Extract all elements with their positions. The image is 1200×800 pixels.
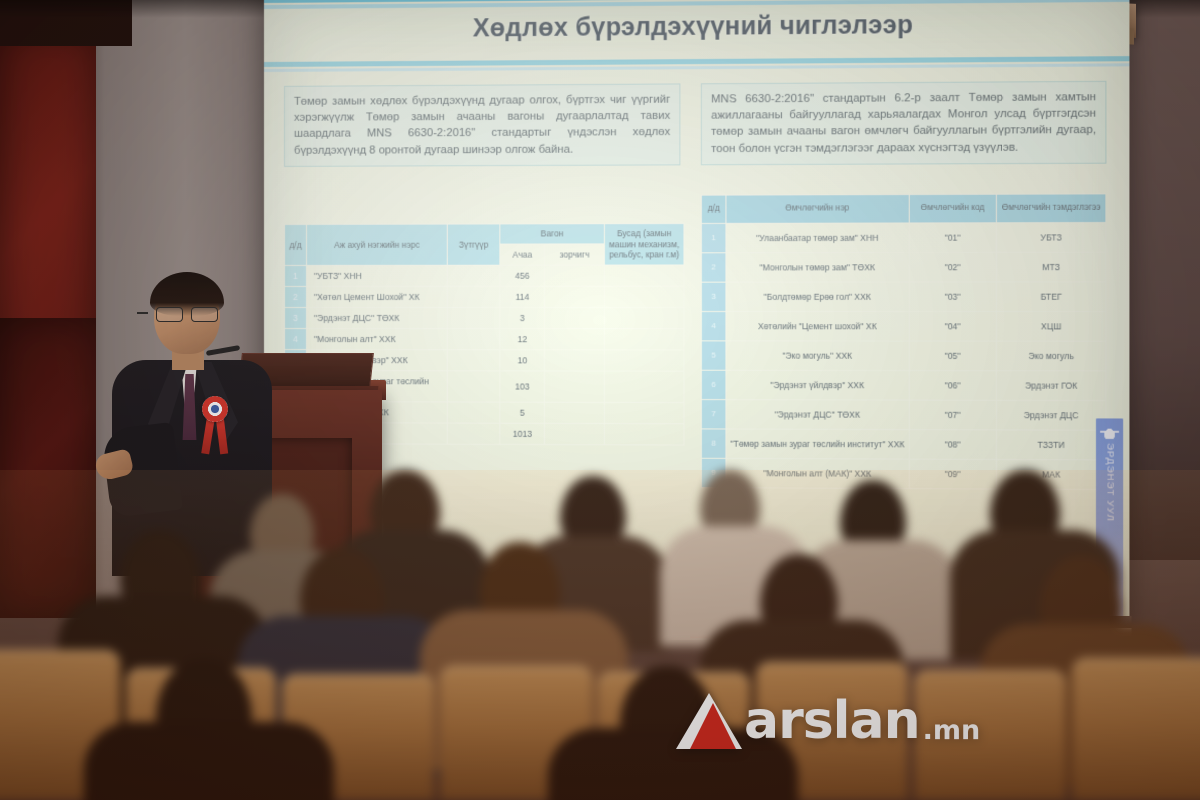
cell-index: 8 <box>701 429 726 458</box>
table-row: 3"Эрдэнэт ДЦС" ТӨХК3 <box>284 307 683 328</box>
cell-owner-mark: Эко могуль <box>997 341 1106 371</box>
table-row: 1"УБТЗ" ХНН456 <box>284 264 683 286</box>
cell-index: 4 <box>284 328 306 349</box>
cell-owner-code: "05" <box>909 341 997 371</box>
table-row: 6"Эрдэнэт үйлдвэр" ХХК"06"Эрдэнэт ГОК <box>701 370 1106 400</box>
col-owner-mark-header: Өмчлөгчийн тэмдэглэгээ <box>997 194 1106 223</box>
cell-owner-mark: ХЦШ <box>997 311 1106 341</box>
cell-owner-name: "Эрдэнэт үйлдвэр" ХХК <box>726 370 909 400</box>
cell-owner-code: "03" <box>909 282 997 312</box>
cell-owner-name: "Болдтөмөр Ерөө гол" ХХК <box>726 282 909 312</box>
cell-index: 7 <box>701 399 726 428</box>
cell-locomotive <box>447 349 500 370</box>
cell-index: 6 <box>701 370 726 399</box>
col-owner-code-header: Өмчлөгчийн код <box>909 194 997 222</box>
cell-wagon-passenger <box>545 286 604 307</box>
table-row: 8"Төмөр замын зураг төслийн институт" ХХ… <box>701 429 1106 460</box>
emblem-icon <box>1100 425 1119 439</box>
table-row: 3"Болдтөмөр Ерөө гол" ХХК"03"БТЕГ <box>701 282 1106 312</box>
cell-index: 3 <box>701 282 726 311</box>
cell-company-name: "Монголын алт" ХХК <box>307 328 448 349</box>
slide-paragraph-right: MNS 6630-2:2016" стандартын 6.2-р заалт … <box>701 81 1107 165</box>
col-owner-name-header: Өмчлөгчийн нэр <box>726 194 909 223</box>
owner-code-table: д/д Өмчлөгчийн нэр Өмчлөгчийн код Өмчлөг… <box>701 193 1107 489</box>
cell-index: 5 <box>701 341 726 370</box>
table-row: 4Хөтөлийн "Цемент шохой" ХК"04"ХЦШ <box>701 311 1106 341</box>
cell-owner-mark: БТЕГ <box>997 282 1106 312</box>
cell-locomotive <box>447 286 500 307</box>
photo-stage: Хөдлөх бүрэлдэхүүний чиглэлээр Төмөр зам… <box>0 0 1200 800</box>
cell-wagon-cargo: 10 <box>500 349 545 370</box>
table-row: 5"Эко могуль" ХХК"05"Эко могуль <box>701 341 1106 371</box>
cell-owner-mark: УБТЗ <box>997 222 1106 252</box>
audience-shoulders-front <box>84 722 334 800</box>
cell-owner-code: "01" <box>909 222 997 252</box>
auditorium-seat <box>1072 658 1200 800</box>
cell-locomotive <box>447 307 500 328</box>
cell-index: 3 <box>284 307 306 328</box>
auditorium-seat <box>914 670 1066 800</box>
cell-wagon-cargo: 5 <box>500 402 545 423</box>
cell-owner-name: "Төмөр замын зураг төслийн институт" ХХК <box>726 429 909 459</box>
cell-wagon-cargo: 1013 <box>500 423 545 444</box>
table-row: 7"Эрдэнэт ДЦС" ТӨХК"07"Эрдэнэт ДЦС <box>701 399 1106 430</box>
cell-index: 4 <box>701 311 726 340</box>
slide-title: Хөдлөх бүрэлдэхүүний чиглэлээр <box>264 9 1129 45</box>
cell-index: 2 <box>284 286 306 307</box>
cell-wagon-cargo: 12 <box>500 328 545 349</box>
col-wagon-passenger-header: зорчигч <box>545 244 604 265</box>
cell-owner-code: "06" <box>909 370 997 400</box>
cell-wagon-passenger <box>545 423 604 444</box>
cell-owner-mark: МТЗ <box>997 252 1106 282</box>
cell-owner-name: "Монголын төмөр зам" ТӨХК <box>726 252 909 282</box>
table-row: 2"Монголын төмөр зам" ТӨХК"02"МТЗ <box>701 252 1106 282</box>
cell-owner-name: "Улаанбаатар төмөр зам" ХНН <box>726 223 909 253</box>
col-locomotive-header: Зүтгүүр <box>447 224 500 265</box>
cell-locomotive <box>447 328 500 349</box>
col-index-header: д/д <box>701 195 726 223</box>
cell-wagon-passenger <box>545 349 604 370</box>
cell-company-name: "Хөтөл Цемент Шохой" ХК <box>307 286 448 307</box>
cell-locomotive <box>447 401 500 422</box>
table-row: 4"Монголын алт" ХХК12 <box>284 328 683 349</box>
col-wagon-header: Вагон <box>500 224 605 245</box>
table-row: 2"Хөтөл Цемент Шохой" ХК114 <box>284 286 683 307</box>
cell-wagon-passenger <box>545 307 604 328</box>
cell-owner-mark: Эрдэнэт ДЦС <box>997 400 1106 430</box>
cell-wagon-cargo: 114 <box>500 286 545 307</box>
cell-owner-name: Хөтөлийн "Цемент шохой" ХК <box>726 311 909 341</box>
col-company-header: Аж ахуй нэгжийн нэрс <box>307 224 448 265</box>
audience <box>0 470 1200 800</box>
col-index-header: д/д <box>284 224 306 265</box>
cell-wagon-passenger <box>545 328 604 349</box>
audience-shoulders-front <box>548 728 798 800</box>
cell-owner-name: "Эко могуль" ХХК <box>726 341 909 371</box>
cell-company-name: "Эрдэнэт ДЦС" ТӨХК <box>307 307 448 328</box>
cell-index: 1 <box>701 223 726 252</box>
cell-locomotive <box>447 423 500 444</box>
cell-other <box>604 349 684 370</box>
cell-wagon-cargo: 456 <box>500 265 545 286</box>
table-header-row: д/д Аж ахуй нэгжийн нэрс Зүтгүүр Вагон Б… <box>284 224 683 245</box>
cell-owner-code: "02" <box>909 252 997 282</box>
cell-other <box>604 328 684 349</box>
cell-other <box>604 307 684 328</box>
cell-other <box>604 423 684 444</box>
cell-locomotive <box>447 370 500 401</box>
cell-owner-mark: Эрдэнэт ГОК <box>997 370 1106 400</box>
cell-wagon-cargo: 3 <box>500 307 545 328</box>
cell-wagon-passenger <box>545 402 604 423</box>
cell-owner-name: "Эрдэнэт ДЦС" ТӨХК <box>726 399 909 429</box>
cell-other <box>604 264 684 285</box>
cell-owner-code: "07" <box>909 400 997 430</box>
table-header-row: д/д Өмчлөгчийн нэр Өмчлөгчийн код Өмчлөг… <box>701 194 1106 223</box>
cell-other <box>604 371 684 402</box>
cell-owner-code: "08" <box>909 429 997 459</box>
cell-owner-mark: ТЗЗТИ <box>997 430 1106 460</box>
slide-paragraph-left: Төмөр замын хөдлөх бүрэлдэхүүнд дугаар о… <box>284 83 680 166</box>
owner-code-table-body: 1"Улаанбаатар төмөр зам" ХНН"01"УБТЗ2"Мо… <box>701 222 1106 489</box>
cell-company-name: "УБТЗ" ХНН <box>307 265 448 286</box>
cell-other <box>604 286 684 307</box>
eyeglasses-icon <box>156 307 218 321</box>
cell-wagon-passenger <box>545 370 604 401</box>
cell-index: 2 <box>701 252 726 281</box>
cell-wagon-passenger <box>545 265 604 286</box>
table-row: 1"Улаанбаатар төмөр зам" ХНН"01"УБТЗ <box>701 222 1106 252</box>
cell-owner-code: "04" <box>909 311 997 341</box>
col-other-header: Бусад (замын машин механизм, рельбус, кр… <box>604 224 684 265</box>
cell-other <box>604 402 684 423</box>
eyeglasses-bridge <box>137 312 148 314</box>
col-wagon-cargo-header: Ачаа <box>500 244 545 264</box>
rosette-badge-icon <box>202 396 228 422</box>
cell-locomotive <box>447 265 500 286</box>
cell-wagon-cargo: 103 <box>500 370 545 401</box>
cell-index: 1 <box>284 265 306 286</box>
